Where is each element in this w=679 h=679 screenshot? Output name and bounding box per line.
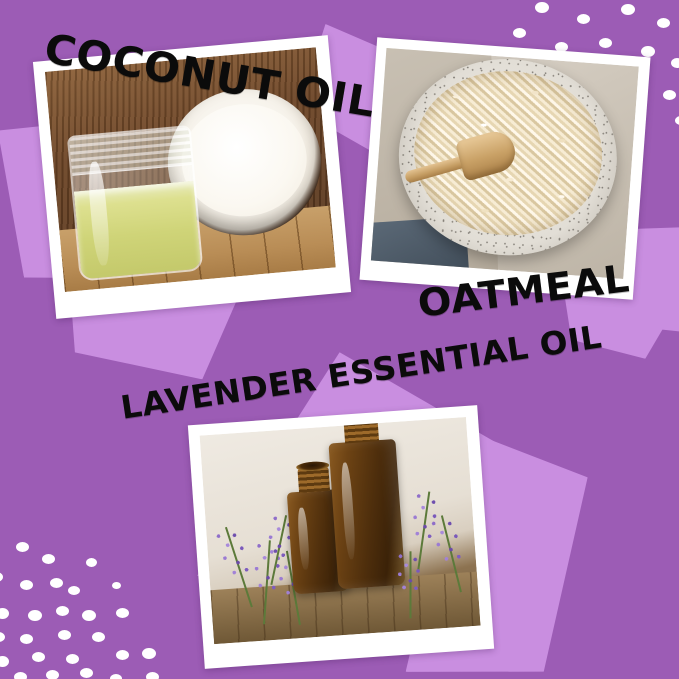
coconut-oil-jar-icon [67,125,203,281]
photo-oatmeal [371,48,639,279]
photo-card-lavender-essential-oil [188,405,494,669]
photo-lavender-essential-oil [200,417,481,644]
lavender-sprig-icon [392,551,427,618]
ingredient-collage-poster: COCONUT OIL OATMEAL LAVENDER ESSENTIAL O… [0,0,679,679]
dot-field-bottom-left [0,520,178,679]
